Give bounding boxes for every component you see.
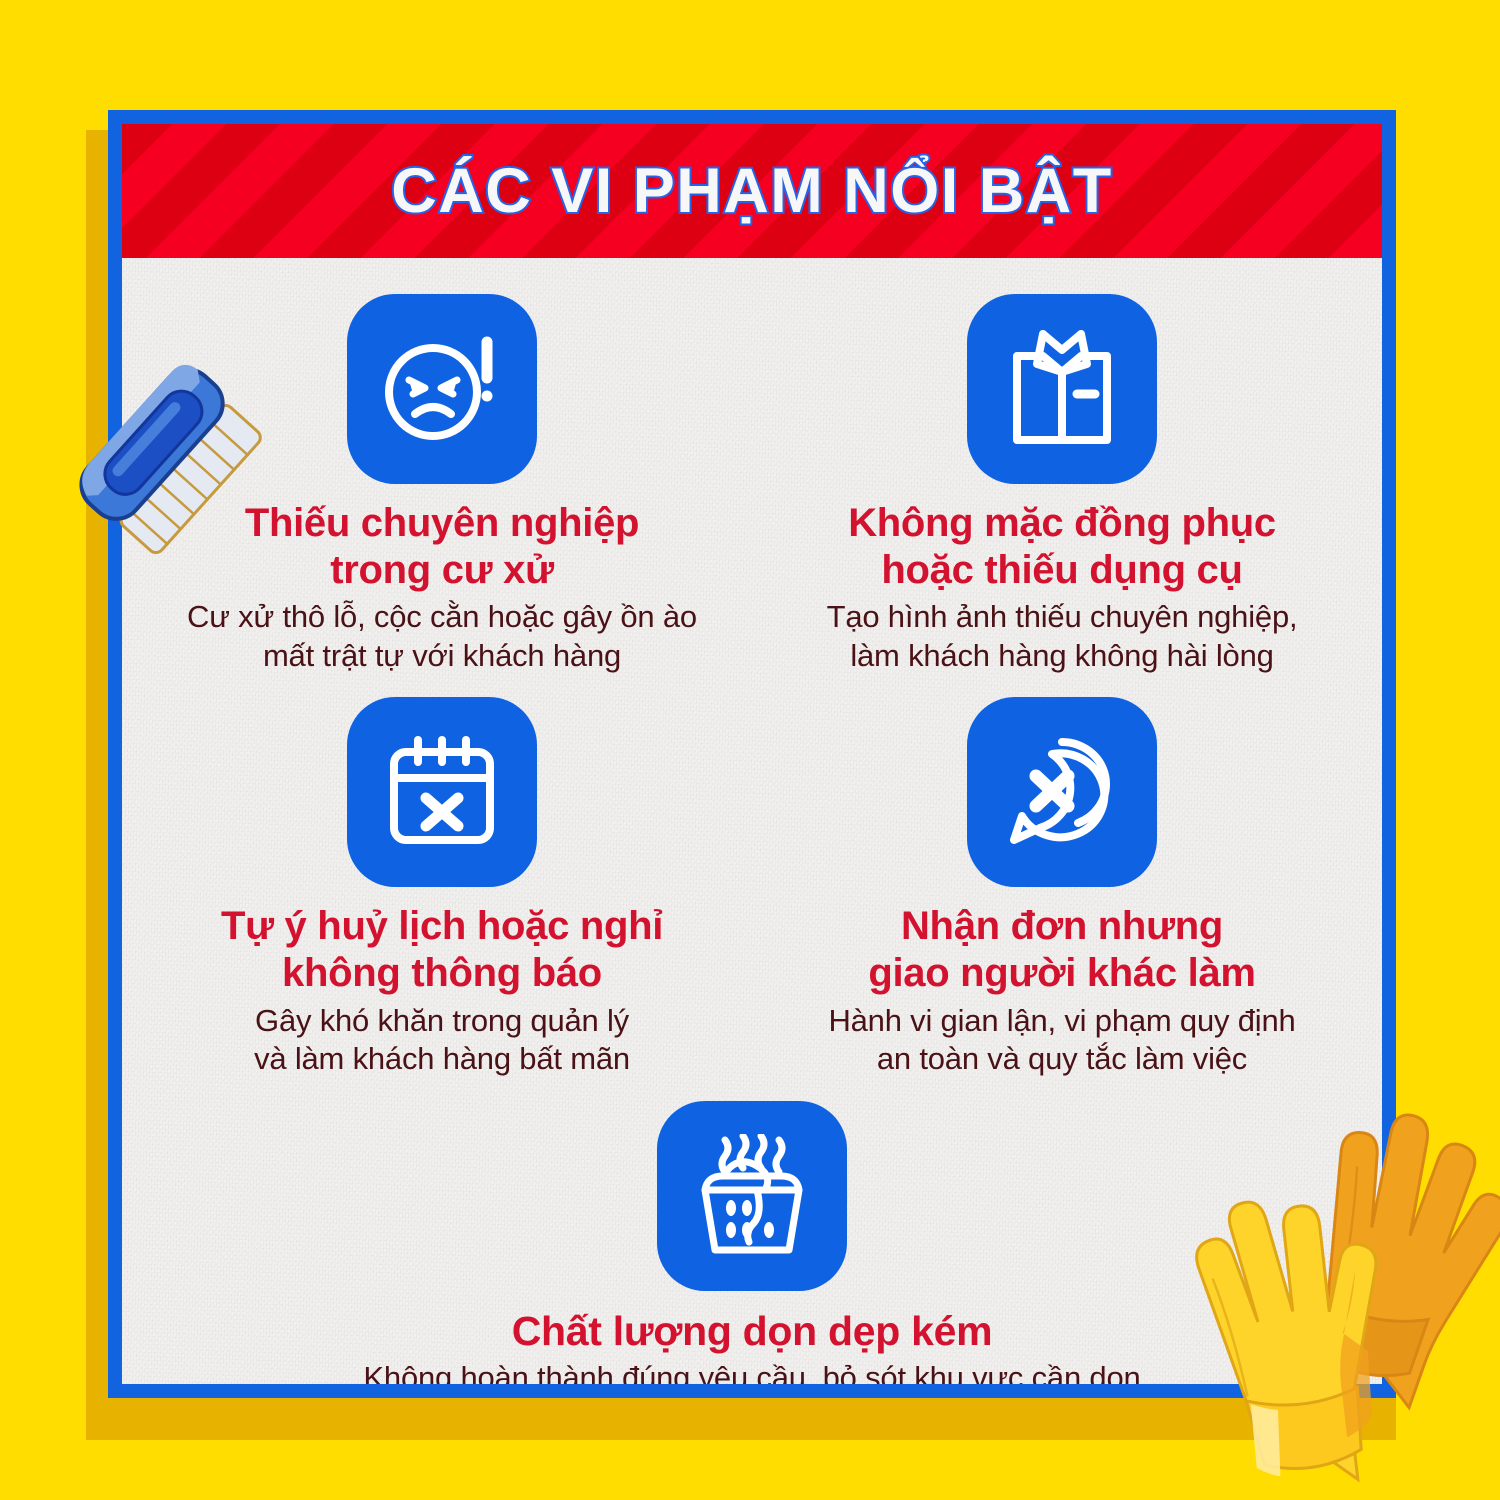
violation-title: Chất lượng dọn dẹp kém xyxy=(512,1307,992,1355)
violation-title-line1: Nhận đơn nhưng xyxy=(901,904,1223,948)
violation-title-line1: Chất lượng dọn dẹp kém xyxy=(512,1308,992,1354)
violation-title: Thiếu chuyên nghiệp trong cư xử xyxy=(245,500,639,594)
violation-title-line2: không thông báo xyxy=(282,951,602,995)
violation-item-4: Nhận đơn nhưng giao người khác làm Hành … xyxy=(782,697,1342,1078)
violation-desc: Tạo hình ảnh thiếu chuyên nghiệp, làm kh… xyxy=(827,598,1298,675)
violation-desc-line2: và làm khách hàng bất mãn xyxy=(254,1041,630,1076)
laundry-basket-steam-icon xyxy=(657,1101,847,1291)
violations-grid: Thiếu chuyên nghiệp trong cư xử Cư xử th… xyxy=(162,294,1342,1384)
violation-title: Nhận đơn nhưng giao người khác làm xyxy=(868,903,1255,997)
violation-title-line1: Tự ý huỷ lịch hoặc nghỉ xyxy=(221,904,663,948)
violation-title-line1: Thiếu chuyên nghiệp xyxy=(245,501,639,545)
infographic-poster: CÁC VI PHẠM NỔI BẬT xyxy=(0,0,1500,1500)
page-title: CÁC VI PHẠM NỔI BẬT xyxy=(391,160,1113,223)
violation-desc-line1: Tạo hình ảnh thiếu chuyên nghiệp, xyxy=(827,599,1298,634)
calendar-cancel-icon xyxy=(347,697,537,887)
violation-desc-line2: làm khách hàng không hài lòng xyxy=(850,638,1273,673)
violation-item-3: Tự ý huỷ lịch hoặc nghỉ không thông báo … xyxy=(162,697,722,1078)
violation-desc: Hành vi gian lận, vi phạm quy định an to… xyxy=(828,1002,1295,1079)
violation-item-2: Không mặc đồng phục hoặc thiếu dụng cụ T… xyxy=(782,294,1342,675)
violation-desc: Cư xử thô lỗ, cộc cằn hoặc gây ồn ào mất… xyxy=(187,598,697,675)
violation-title-line2: hoặc thiếu dụng cụ xyxy=(881,548,1242,592)
violation-desc-line2: mất trật tự với khách hàng xyxy=(263,638,621,673)
angry-face-exclamation-icon xyxy=(347,294,537,484)
framed-card: CÁC VI PHẠM NỔI BẬT xyxy=(108,110,1396,1398)
violation-desc-line1: Hành vi gian lận, vi phạm quy định xyxy=(828,1003,1295,1038)
violation-desc-line1: Không hoàn thành đúng yêu cầu, bỏ sót kh… xyxy=(363,1360,1140,1384)
card-inner: CÁC VI PHẠM NỔI BẬT xyxy=(122,124,1382,1384)
violations-content: Thiếu chuyên nghiệp trong cư xử Cư xử th… xyxy=(122,258,1382,1384)
violation-title: Tự ý huỷ lịch hoặc nghỉ không thông báo xyxy=(221,903,663,997)
violation-desc-line1: Cư xử thô lỗ, cộc cằn hoặc gây ồn ào xyxy=(187,599,697,634)
uniform-shirt-icon xyxy=(967,294,1157,484)
violation-title-line2: giao người khác làm xyxy=(868,951,1255,995)
violation-desc-line2: an toàn và quy tắc làm việc xyxy=(877,1041,1247,1076)
violation-title-line2: trong cư xử xyxy=(330,548,554,592)
violation-desc-line1: Gây khó khăn trong quản lý xyxy=(255,1003,629,1038)
header-banner: CÁC VI PHẠM NỔI BẬT xyxy=(122,124,1382,258)
violation-item-5: Chất lượng dọn dẹp kém Không hoàn thành … xyxy=(162,1101,1342,1385)
violation-desc: Gây khó khăn trong quản lý và làm khách … xyxy=(254,1002,630,1079)
violation-title-line1: Không mặc đồng phục xyxy=(848,501,1276,545)
violation-title: Không mặc đồng phục hoặc thiếu dụng cụ xyxy=(848,500,1276,594)
violation-item-1: Thiếu chuyên nghiệp trong cư xử Cư xử th… xyxy=(162,294,722,675)
speech-bubble-cancel-icon xyxy=(967,697,1157,887)
violation-desc: Không hoàn thành đúng yêu cầu, bỏ sót kh… xyxy=(363,1359,1140,1384)
